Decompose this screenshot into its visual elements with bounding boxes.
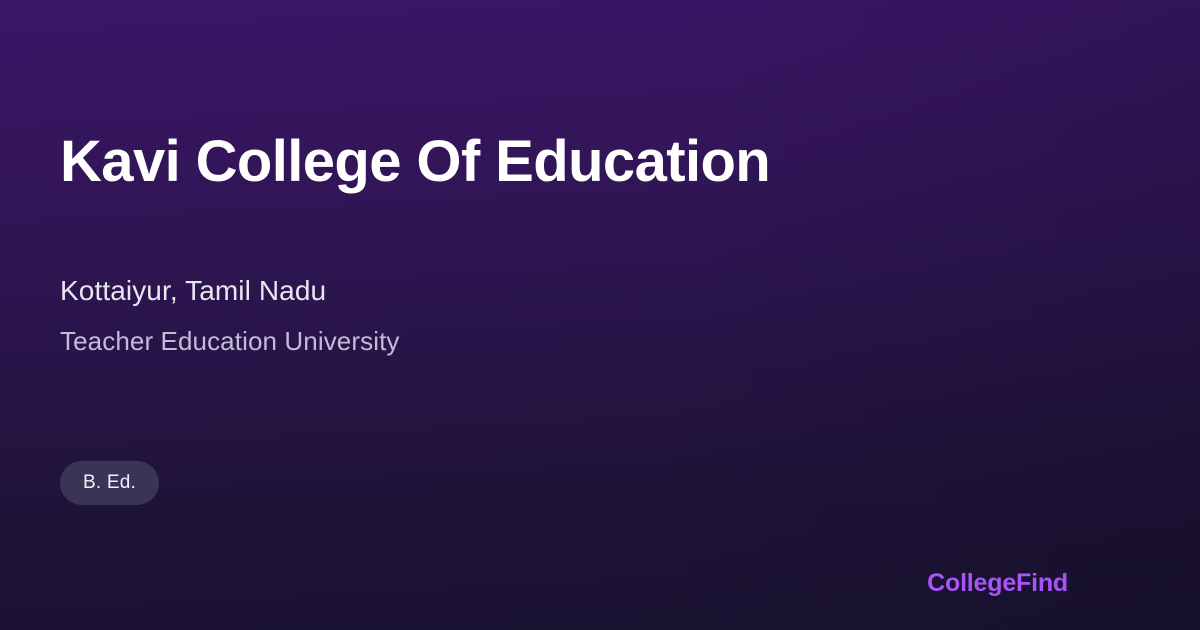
college-location: Kottaiyur, Tamil Nadu — [60, 274, 326, 308]
status-badge: B. Ed. — [60, 461, 159, 505]
institution-type: Teacher Education University — [60, 326, 400, 357]
brand-logo: CollegeFind — [927, 569, 1068, 598]
page-title: Kavi College Of Education — [60, 130, 770, 195]
card-content: Kavi College Of Education Kottaiyur, Tam… — [0, 0, 1200, 630]
program-badge-list: B. Ed. — [60, 461, 159, 505]
college-og-card: Kavi College Of Education Kottaiyur, Tam… — [0, 0, 1200, 630]
